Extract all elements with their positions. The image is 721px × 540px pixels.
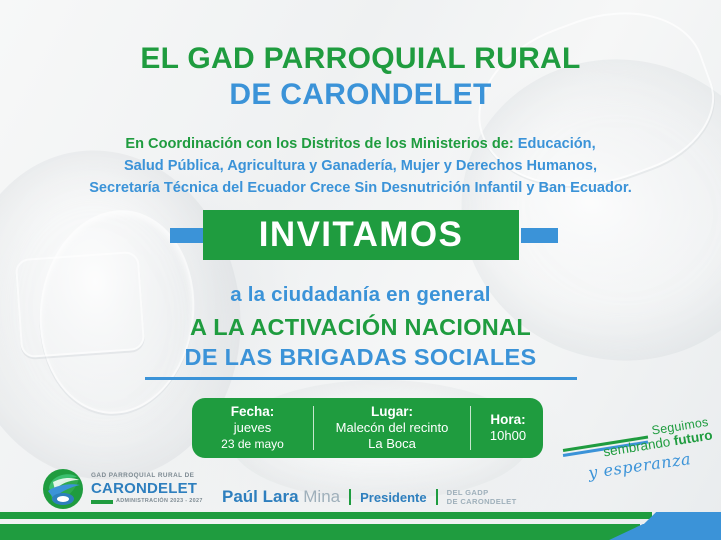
poster-headline: EL GAD PARROQUIAL RURAL DE CARONDELET [0, 42, 721, 111]
coordination-green-text: En Coordinación con los Distritos de los… [125, 136, 513, 152]
detail-column-lugar: Lugar: Malecón del recinto La Boca [314, 398, 470, 458]
message-line-3: DE LAS BRIGADAS SOCIALES [0, 344, 721, 371]
logo-admin-text: ADMINISTRACIÓN 2023 - 2027 [116, 499, 203, 505]
coordination-blue-text-2: Salud Pública, Agricultura y Ganadería, … [124, 158, 597, 174]
logo-dash-icon [91, 500, 113, 504]
footer-bar-bottom [0, 524, 640, 540]
message-underline [145, 377, 577, 380]
message-line-2: A LA ACTIVACIÓN NACIONAL [0, 314, 721, 341]
invitamos-band-wrapper: INVITAMOS [0, 210, 721, 260]
signature-org-line-2: DE CARONDELET [447, 497, 517, 506]
carondelet-logo: GAD PARROQUIAL RURAL DE CARONDELET ADMIN… [42, 468, 203, 510]
signature-name-bold: Paúl Lara [222, 487, 299, 506]
message-line-1: a la ciudadanía en general [0, 283, 721, 307]
message-block: a la ciudadanía en general A LA ACTIVACI… [0, 283, 721, 380]
signature-divider-1 [349, 489, 351, 505]
detail-heading-fecha: Fecha: [231, 403, 275, 420]
logo-admin-row: ADMINISTRACIÓN 2023 - 2027 [91, 499, 203, 505]
headline-line-1: EL GAD PARROQUIAL RURAL [0, 42, 721, 76]
signature-role: Presidente [360, 490, 426, 505]
band-tab-right [521, 228, 558, 243]
signature-divider-2 [436, 489, 438, 505]
slogan-block: Seguimos sembrando futuro y esperanza [561, 432, 713, 488]
signature-name-light: Mina [299, 487, 341, 506]
signature-block: Paúl Lara Mina Presidente DEL GADP DE CA… [222, 487, 517, 507]
logo-emblem-icon [42, 468, 84, 510]
logo-text: GAD PARROQUIAL RURAL DE CARONDELET ADMIN… [91, 473, 203, 504]
invitamos-band: INVITAMOS [203, 210, 519, 260]
footer-bar-top [0, 512, 652, 519]
detail-column-hora: Hora: 10h00 [471, 398, 545, 458]
headline-line-2: DE CARONDELET [0, 78, 721, 112]
detail-value-lugar-line-2: La Boca [368, 436, 416, 452]
detail-column-fecha: Fecha: jueves 23 de mayo [192, 398, 313, 458]
signature-org-line-1: DEL GADP [447, 488, 517, 497]
signature-organization: DEL GADP DE CARONDELET [447, 488, 517, 506]
invitation-poster: EL GAD PARROQUIAL RURAL DE CARONDELET En… [0, 0, 721, 540]
coordination-blue-text-1: Educación, [514, 136, 596, 152]
detail-heading-hora: Hora: [490, 411, 525, 428]
logo-name: CARONDELET [91, 481, 203, 497]
coordination-paragraph: En Coordinación con los Distritos de los… [0, 133, 721, 200]
detail-value-lugar-line-1: Malecón del recinto [336, 420, 449, 436]
detail-value-fecha-day: jueves [234, 420, 272, 436]
logo-top-text: GAD PARROQUIAL RURAL DE [91, 473, 203, 480]
detail-value-fecha-date: 23 de mayo [221, 437, 284, 452]
detail-heading-lugar: Lugar: [371, 403, 413, 420]
detail-value-hora: 10h00 [490, 428, 526, 444]
signature-name: Paúl Lara Mina [222, 487, 340, 507]
invitamos-label: INVITAMOS [259, 215, 463, 255]
event-details-box: Fecha: jueves 23 de mayo Lugar: Malecón … [192, 398, 543, 458]
coordination-blue-text-3: Secretaría Técnica del Ecuador Crece Sin… [89, 180, 632, 196]
